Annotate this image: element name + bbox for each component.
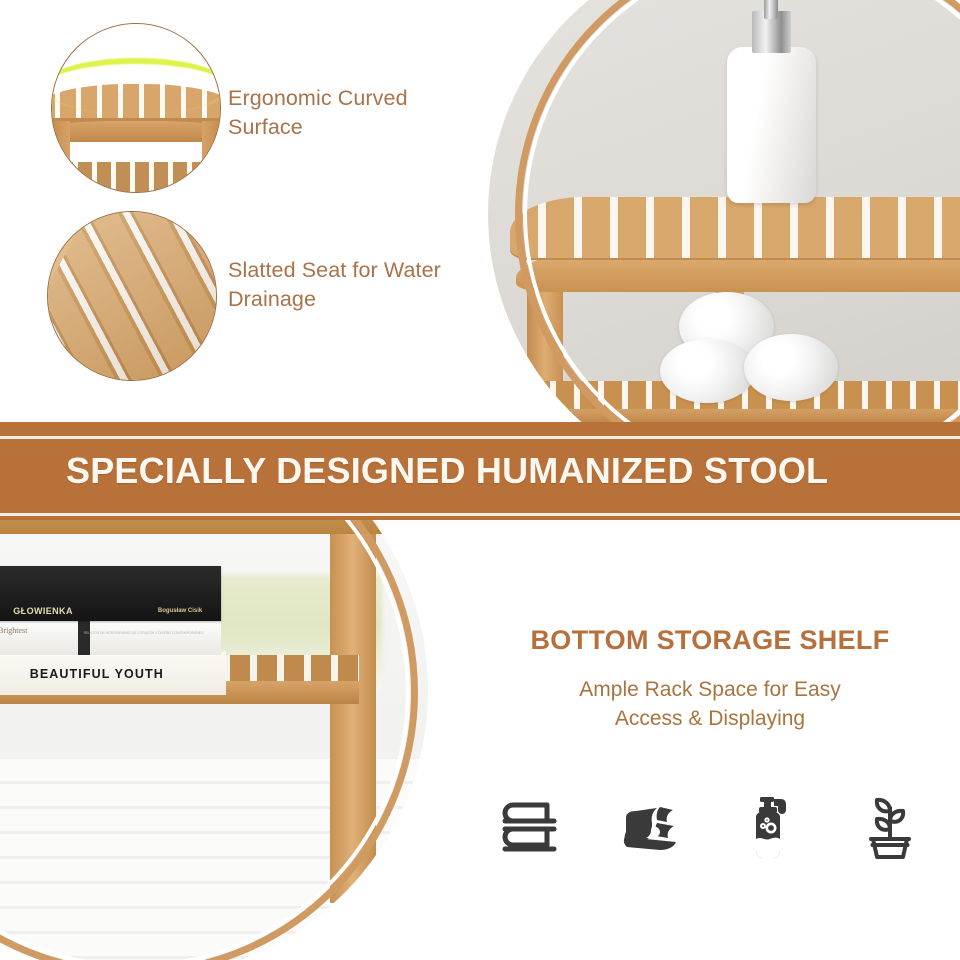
bottom-storage-subtext: Ample Rack Space for Easy Access & Displ… (460, 676, 960, 734)
bottom-copy-block: BOTTOM STORAGE SHELF Ample Rack Space fo… (460, 625, 960, 734)
book-title: BEAUTIFUL YOUTH (30, 667, 164, 681)
photo-content: BEAUTIFUL YOUTH Brightest RELATOS DE INT… (0, 520, 428, 960)
feature-label-ergonomic-curved-surface: Ergonomic Curved Surface (228, 84, 478, 142)
headline-banner: SPECIALLY DESIGNED HUMANIZED STOOL (0, 422, 960, 520)
curved-slatted-top-closeup (52, 24, 220, 192)
towel-roll (744, 334, 839, 401)
book-title: GŁOWIENKA (13, 606, 73, 616)
top-section: Ergonomic Curved Surface Slatted Seat fo… (0, 0, 960, 422)
book-glowienka: GŁOWIENKA Bogusław Cisik (0, 566, 221, 621)
banner-headline: SPECIALLY DESIGNED HUMANIZED STOOL (66, 450, 828, 492)
book-author: Bogusław Cisik (158, 608, 202, 614)
soap-dispenser-pump-stem (764, 0, 778, 19)
infographic-canvas: Ergonomic Curved Surface Slatted Seat fo… (0, 0, 960, 960)
lower-shelf-slats (59, 162, 214, 192)
soap-dispenser-icon (730, 788, 810, 868)
lighting-overlay (48, 212, 216, 380)
rolled-white-towels (660, 292, 849, 403)
stool-seat-apron (0, 520, 428, 534)
book-beautiful-youth: BEAUTIFUL YOUTH (0, 652, 226, 695)
book-title: Brightest (0, 626, 27, 635)
bottom-storage-heading: BOTTOM STORAGE SHELF (460, 625, 960, 656)
curve-highlight-arc (52, 58, 220, 115)
usage-icon-row (470, 788, 950, 868)
bottom-section: BEAUTIFUL YOUTH Brightest RELATOS DE INT… (0, 520, 960, 960)
bottom-shelf-with-books-photo: BEAUTIFUL YOUTH Brightest RELATOS DE INT… (0, 520, 428, 960)
book-brightest: Brightest RELATOS DE INTERIORISMO DE COR… (0, 621, 221, 656)
feature-inset-curved-surface (52, 24, 220, 192)
books-icon (490, 788, 570, 868)
seat-apron (52, 121, 220, 143)
potted-plant-icon (850, 788, 930, 868)
feature-inset-slatted-seat (48, 212, 216, 380)
feature-label-slatted-seat: Slatted Seat for Water Drainage (228, 256, 478, 314)
folded-towels-icon (610, 788, 690, 868)
stool-bottom-shelf-edge (532, 409, 960, 422)
banner-top-rule (0, 436, 960, 439)
book-spine-band (78, 621, 90, 656)
stool-right-leg (330, 523, 376, 903)
open-gap (59, 142, 214, 164)
soap-dispenser-body (727, 47, 816, 203)
subtext-line-2: Access & Displaying (460, 705, 960, 734)
banner-bottom-rule (0, 513, 960, 516)
bamboo-stool-with-soap-dispenser-photo (488, 0, 960, 422)
subtext-line-1: Ample Rack Space for Easy (460, 676, 960, 705)
stool-slatted-seat (510, 197, 960, 258)
slatted-seat-closeup (48, 212, 216, 380)
photo-content (488, 0, 960, 422)
towel-roll (660, 339, 755, 403)
book-blurb: RELATOS DE INTERIORISMO DE CORAZÓN Y DIS… (84, 631, 204, 636)
